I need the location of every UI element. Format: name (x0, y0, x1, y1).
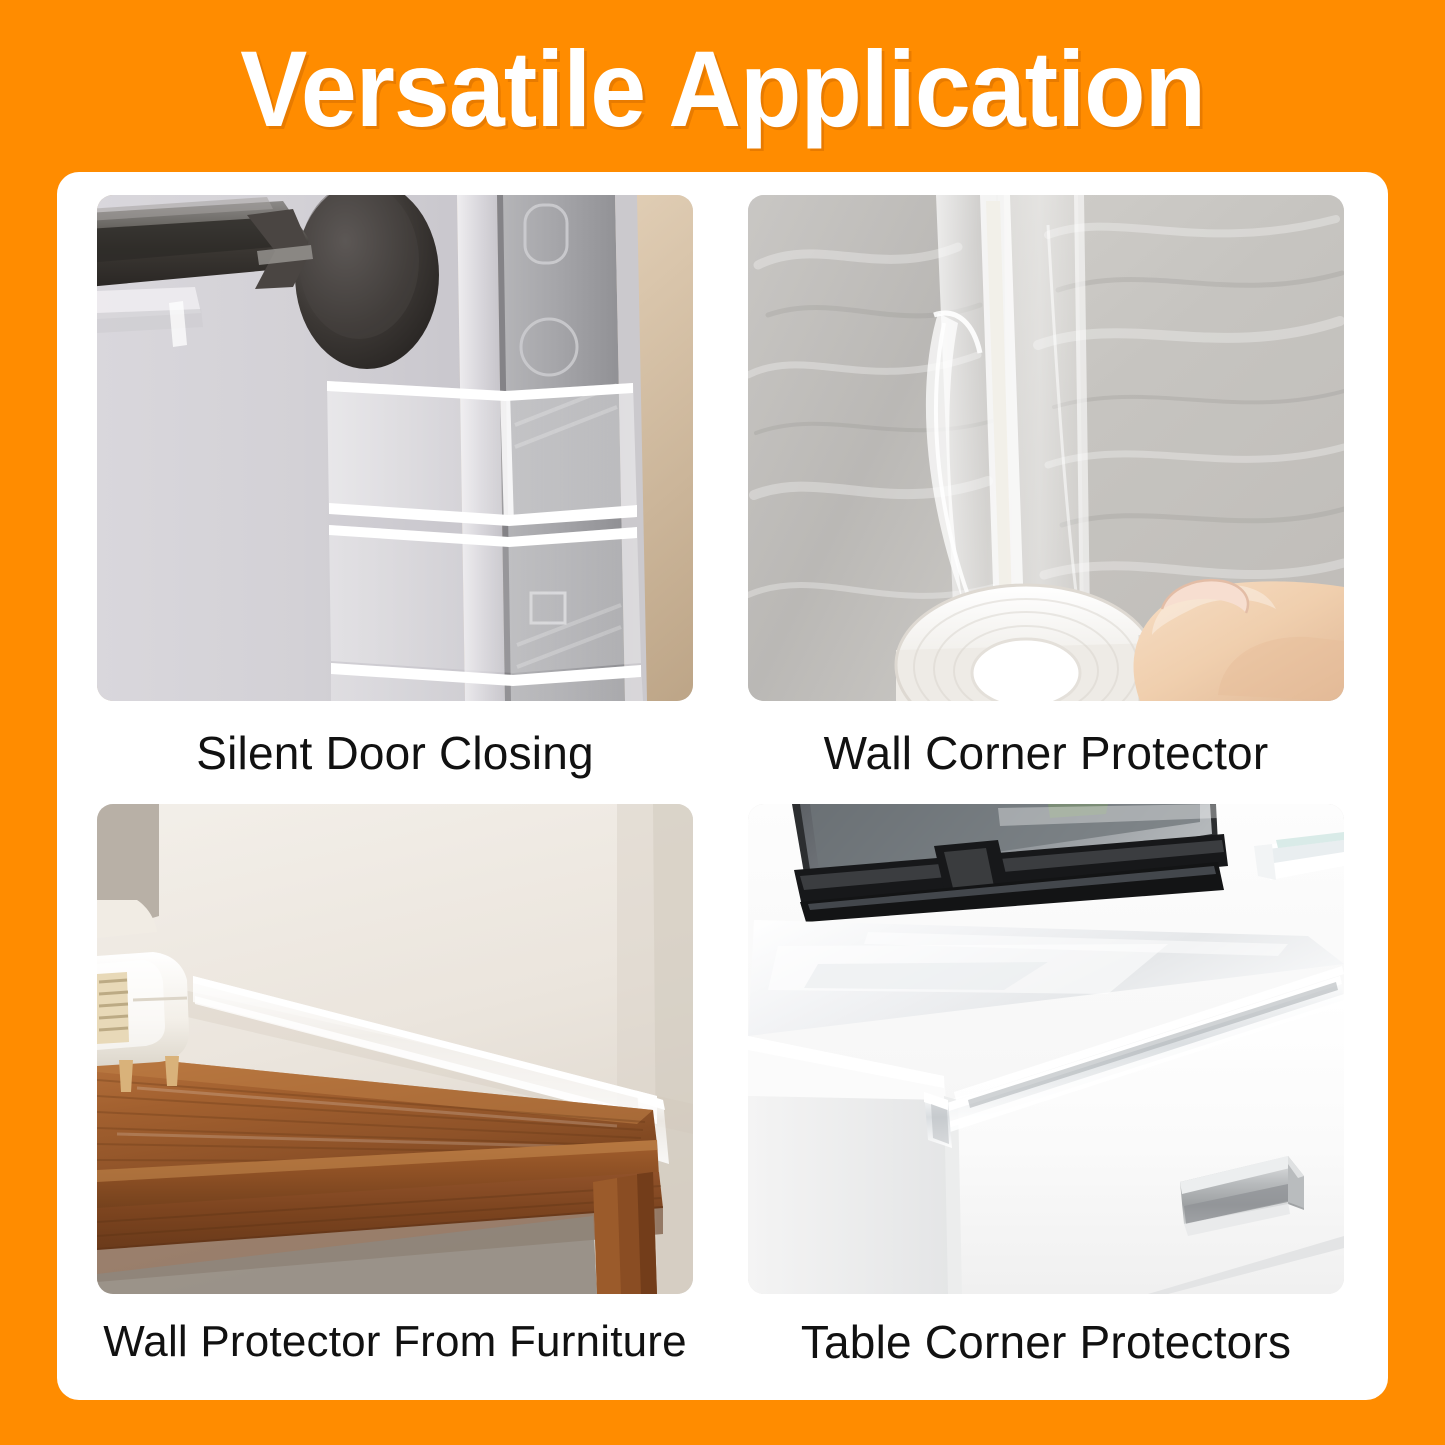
poster-root: Versatile Application (0, 0, 1445, 1445)
door-scene-illustration (97, 195, 693, 701)
page-title: Versatile Application (240, 29, 1205, 143)
caption-wall-protector-from-furniture: Wall Protector From Furniture (97, 1294, 693, 1389)
photo-silent-door-closing (97, 195, 693, 701)
caption-table-corner-protectors: Table Corner Protectors (748, 1294, 1344, 1389)
caption-silent-door-closing: Silent Door Closing (97, 701, 693, 804)
table-edge-scene-illustration (97, 804, 693, 1294)
content-card: Silent Door Closing (57, 172, 1388, 1400)
panel-grid: Silent Door Closing (97, 195, 1348, 1385)
photo-wall-protector-from-furniture (97, 804, 693, 1294)
wall-tape-scene-illustration (748, 195, 1344, 701)
cabinet-edge-scene-illustration (748, 804, 1344, 1294)
caption-wall-corner-protector: Wall Corner Protector (748, 701, 1344, 804)
title-bar: Versatile Application (0, 0, 1445, 172)
corner-protector-1 (327, 381, 637, 526)
corner-protector-2 (329, 525, 641, 673)
photo-wall-corner-protector (748, 195, 1344, 701)
photo-table-corner-protectors (748, 804, 1344, 1294)
